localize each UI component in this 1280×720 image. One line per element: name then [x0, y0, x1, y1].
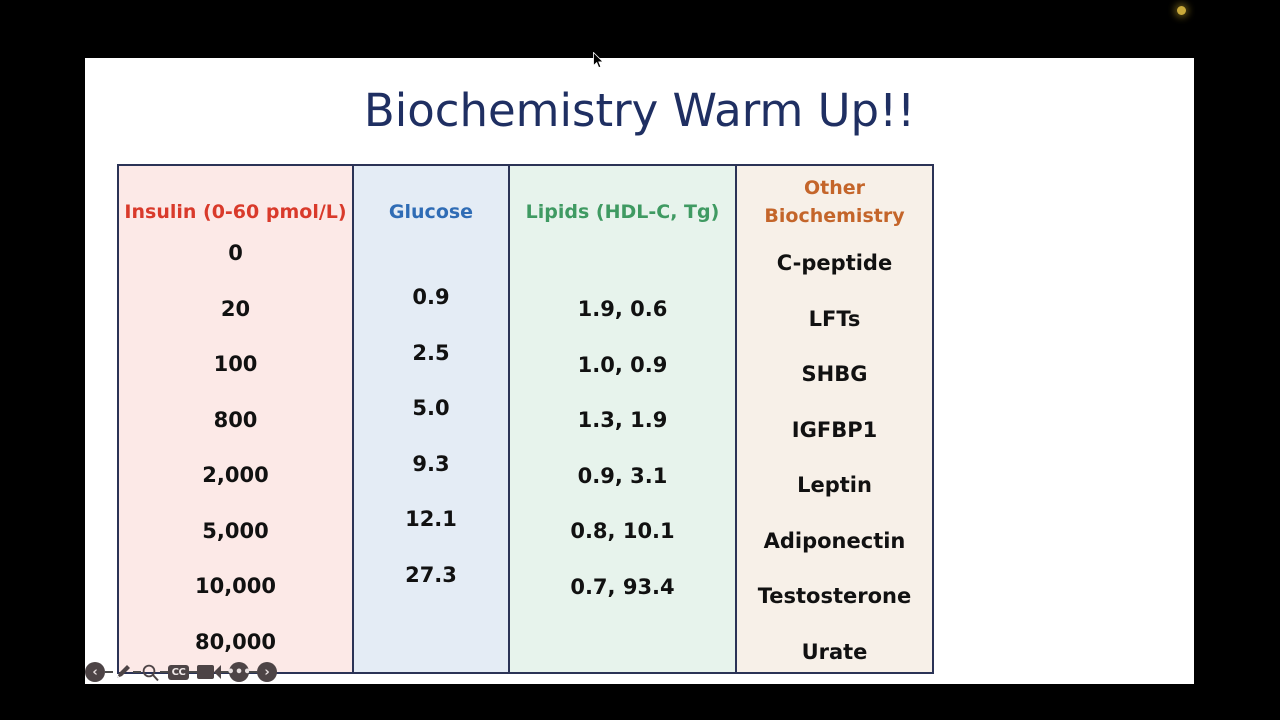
table-cell: 2,000: [202, 462, 268, 518]
forward-arrow-button[interactable]: ›: [257, 661, 277, 683]
toolbar-divider: [249, 671, 257, 673]
table-cell: 10,000: [195, 573, 276, 629]
toolbar-divider: [160, 671, 168, 673]
captions-button[interactable]: CC: [168, 661, 189, 683]
column-cells-insulin: 0 20 100 800 2,000 5,000 10,000 80,000: [119, 240, 352, 674]
table-cell: 27.3: [405, 562, 457, 618]
zoom-button[interactable]: [141, 661, 160, 683]
stop-button[interactable]: [197, 661, 214, 683]
player-toolbar[interactable]: ‹ CC •••: [85, 660, 270, 684]
table-cell: 9.3: [412, 451, 449, 507]
table-cell: 0: [228, 240, 243, 296]
table-cell: 100: [214, 351, 258, 407]
table-cell: Testosterone: [758, 583, 912, 639]
table-cell: 5.0: [412, 395, 449, 451]
table-cell: 0.8, 10.1: [570, 518, 674, 574]
back-arrow-button[interactable]: ‹: [85, 661, 105, 683]
column-cells-lipids: 1.9, 0.6 1.0, 0.9 1.3, 1.9 0.9, 3.1 0.8,…: [510, 296, 735, 629]
mouse-cursor: [593, 52, 605, 70]
more-options-button[interactable]: •••: [229, 661, 249, 683]
stop-square-icon[interactable]: [197, 665, 214, 679]
more-options-icon[interactable]: •••: [229, 662, 249, 682]
closed-captions-icon[interactable]: CC: [168, 665, 189, 680]
table-column-glucose: Glucose 0.9 2.5 5.0 9.3 12.1 27.3: [352, 164, 510, 674]
toolbar-divider: [105, 671, 113, 673]
speaker-icon[interactable]: [214, 665, 221, 679]
pen-button[interactable]: [113, 661, 133, 683]
column-header-insulin: Insulin (0-60 pmol/L): [124, 198, 346, 226]
toolbar-divider: [133, 671, 141, 673]
table-cell: 20: [221, 296, 250, 352]
table-cell: 12.1: [405, 506, 457, 562]
table-cell: 5,000: [202, 518, 268, 574]
table-cell: 0.9: [412, 284, 449, 340]
table-cell: 0.7, 93.4: [570, 574, 674, 630]
toolbar-divider: [189, 671, 197, 673]
table-column-lipids: Lipids (HDL-C, Tg) 1.9, 0.6 1.0, 0.9 1.3…: [508, 164, 737, 674]
table-cell: 800: [214, 407, 258, 463]
slide-canvas: Biochemistry Warm Up!! Insulin (0-60 pmo…: [85, 58, 1194, 684]
table-cell: 2.5: [412, 340, 449, 396]
table-cell: 1.9, 0.6: [578, 296, 668, 352]
table-cell: IGFBP1: [792, 417, 877, 473]
table-column-insulin: Insulin (0-60 pmol/L) 0 20 100 800 2,000…: [117, 164, 354, 674]
table-cell: 0.9, 3.1: [578, 463, 668, 519]
presentation-screen: Biochemistry Warm Up!! Insulin (0-60 pmo…: [0, 0, 1280, 720]
table-cell: LFTs: [809, 306, 861, 362]
table-cell: 1.0, 0.9: [578, 352, 668, 408]
pen-icon[interactable]: [113, 662, 133, 682]
table-cell: 1.3, 1.9: [578, 407, 668, 463]
column-header-other-biochemistry: Other Biochemistry: [764, 174, 904, 230]
recording-indicator-dot: [1177, 6, 1186, 15]
magnifier-icon[interactable]: [141, 663, 160, 682]
table-cell: Adiponectin: [764, 528, 906, 584]
volume-button[interactable]: [214, 661, 221, 683]
column-header-lipids: Lipids (HDL-C, Tg): [526, 198, 720, 226]
forward-arrow-icon[interactable]: ›: [257, 662, 277, 682]
table-column-other-biochemistry: Other Biochemistry C-peptide LFTs SHBG I…: [735, 164, 934, 674]
table-cell: C-peptide: [777, 250, 892, 306]
biochemistry-table: Insulin (0-60 pmol/L) 0 20 100 800 2,000…: [117, 164, 938, 674]
table-cell: Leptin: [797, 472, 872, 528]
table-cell: SHBG: [802, 361, 868, 417]
column-cells-other-biochemistry: C-peptide LFTs SHBG IGFBP1 Leptin Adipon…: [737, 250, 932, 674]
page-title: Biochemistry Warm Up!!: [85, 84, 1194, 137]
back-arrow-icon[interactable]: ‹: [85, 662, 105, 682]
table-cell: Urate: [802, 639, 868, 675]
column-cells-glucose: 0.9 2.5 5.0 9.3 12.1 27.3: [354, 284, 508, 617]
column-header-glucose: Glucose: [389, 198, 473, 226]
